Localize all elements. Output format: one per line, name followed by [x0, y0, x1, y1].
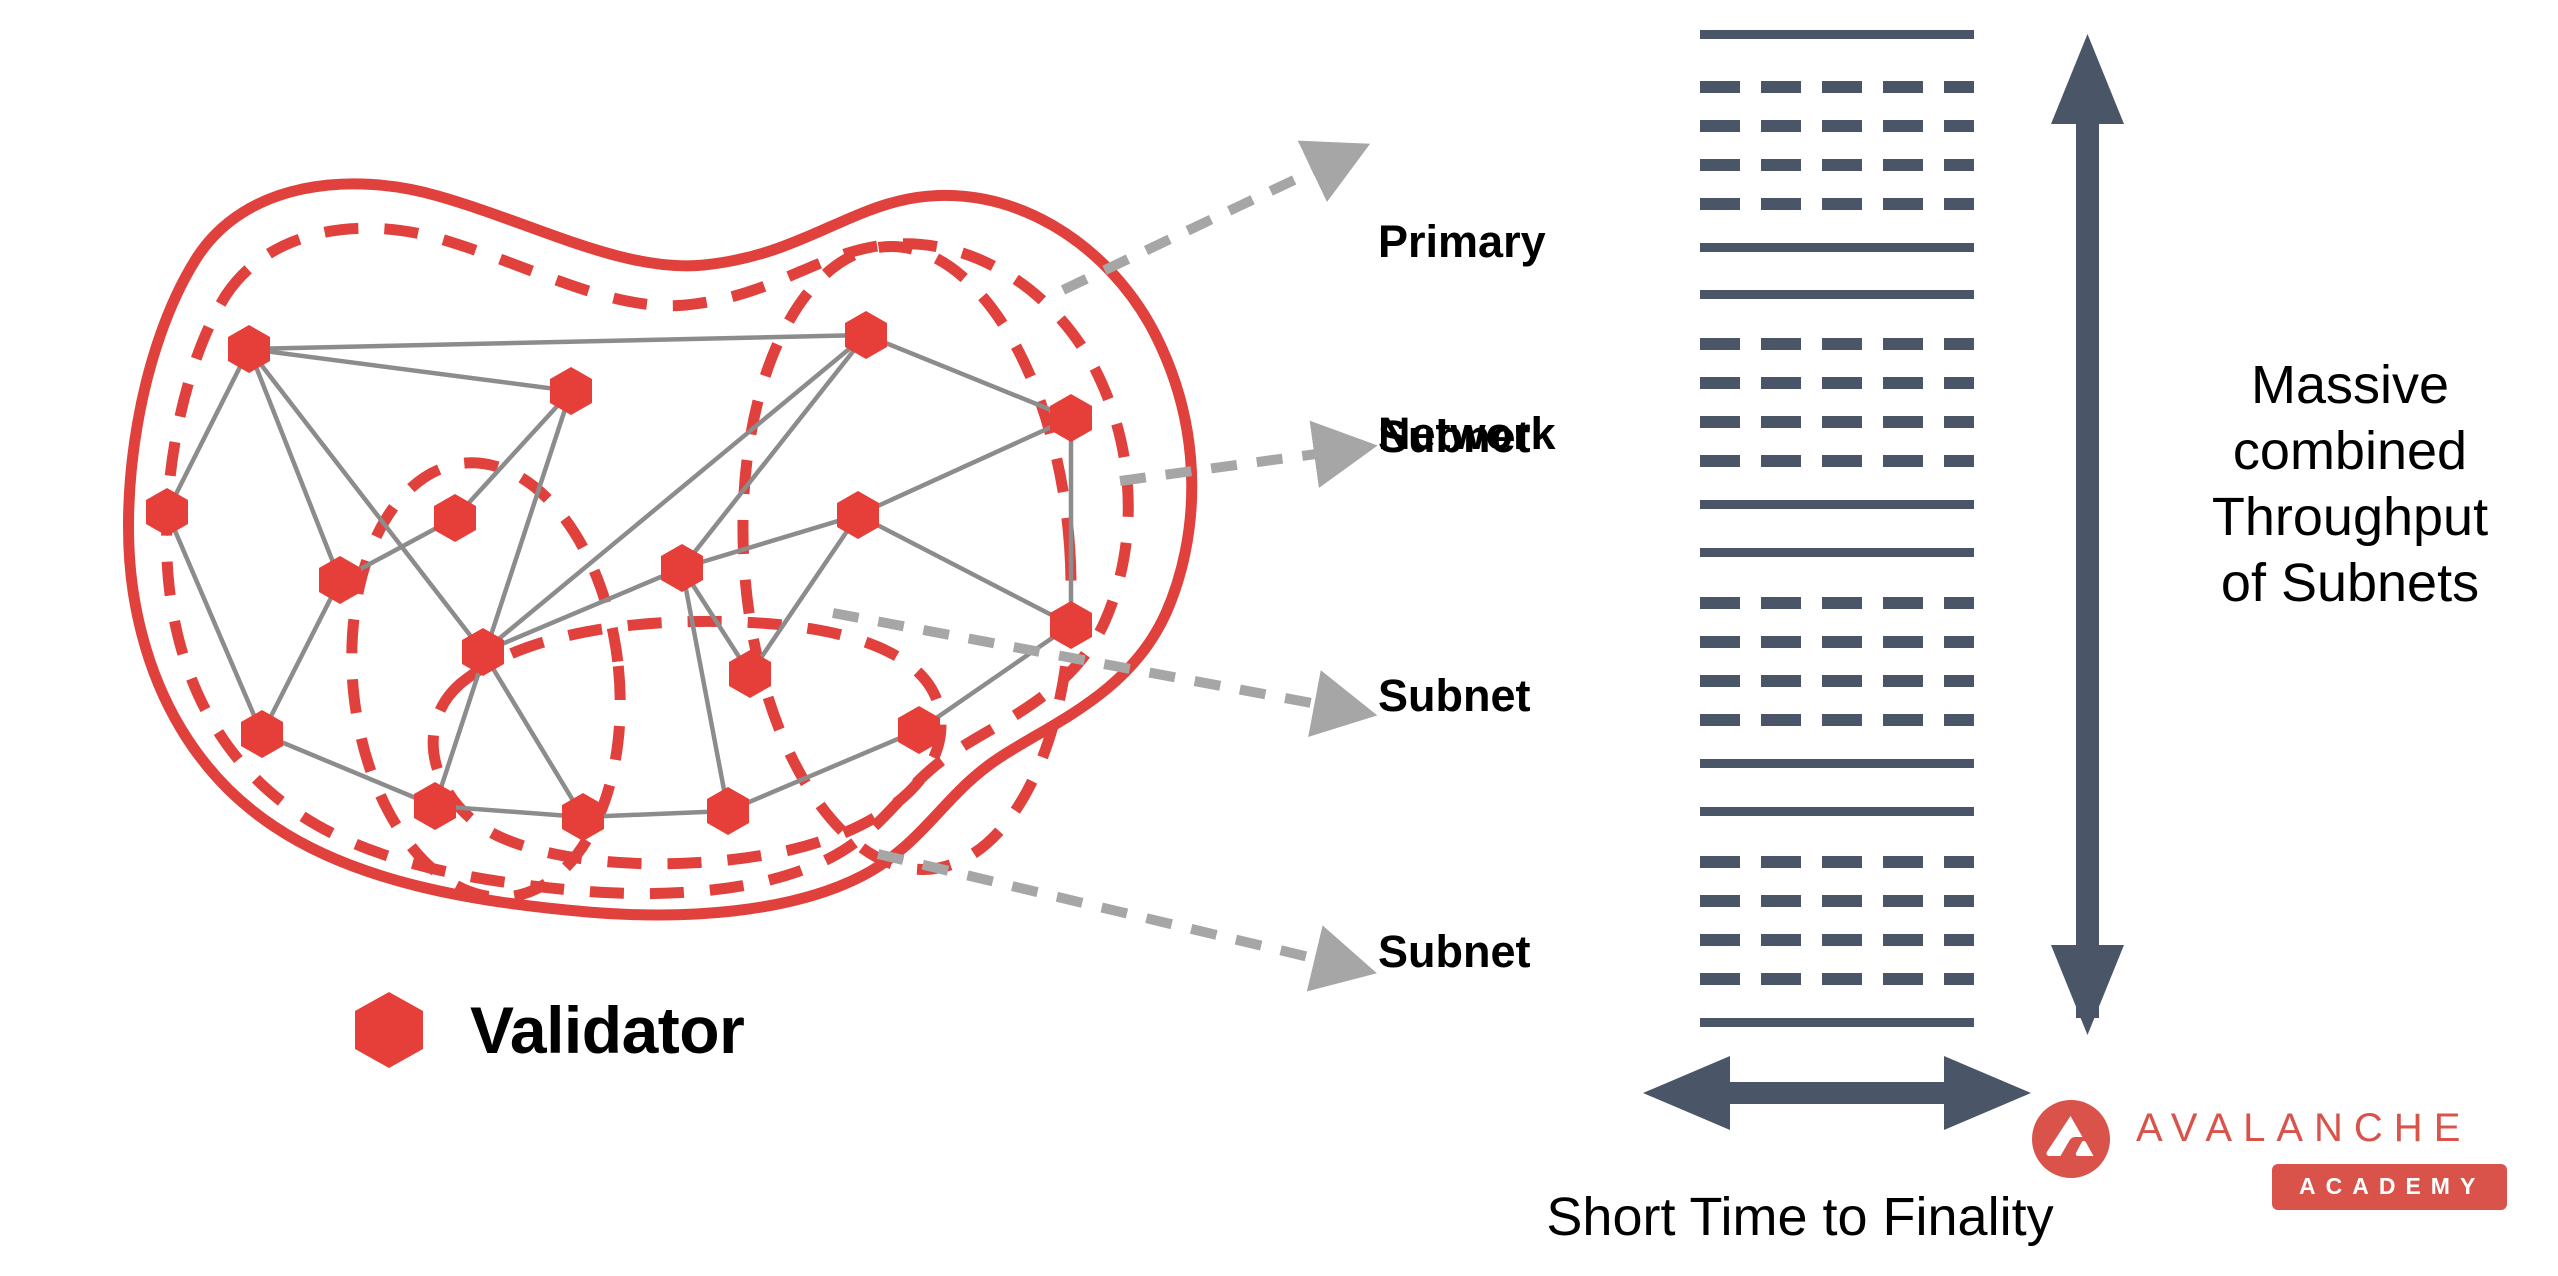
- lane-dash-row: [1700, 159, 1974, 171]
- legend-validator-label: Validator: [470, 992, 744, 1068]
- throughput-lane-stripes: [1700, 30, 1974, 1027]
- validator-node: [319, 556, 361, 604]
- academy-badge-text: ACADEMY: [2299, 1173, 2485, 1199]
- leader-subnet-1: [1120, 451, 1338, 481]
- lane-dash-row: [1700, 934, 1974, 946]
- lane-rail: [1700, 1018, 1974, 1027]
- caption-throughput-line3: Throughput: [2150, 484, 2550, 550]
- lane-dash-row: [1700, 675, 1974, 687]
- lane-dash-row: [1700, 636, 1974, 648]
- lane-dash-row: [1700, 856, 1974, 868]
- lane-dash-row: [1700, 895, 1974, 907]
- academy-badge: ACADEMY: [2272, 1164, 2507, 1210]
- lane-rail: [1700, 548, 1974, 557]
- caption-throughput: Massive combined Throughput of Subnets: [2150, 352, 2550, 616]
- validator-node: [837, 491, 879, 539]
- diagram-svg: [0, 0, 2558, 1276]
- horizontal-double-arrow: [1643, 1056, 2031, 1130]
- lane-dash-row: [1700, 597, 1974, 609]
- avalanche-mark-icon: [2032, 1100, 2110, 1178]
- label-subnet-2: Subnet: [1378, 670, 1531, 722]
- validator-node: [1050, 394, 1092, 442]
- validator-node: [562, 793, 604, 841]
- lane-dash-row: [1700, 973, 1974, 985]
- diagram-canvas: Primary Network Subnet Subnet Subnet Val…: [0, 0, 2558, 1276]
- lane-rail: [1700, 243, 1974, 252]
- hexagon-icon: [352, 990, 426, 1070]
- lane-rail: [1700, 30, 1974, 39]
- validator-nodes: [146, 311, 1092, 841]
- label-subnet-3: Subnet: [1378, 926, 1531, 978]
- validator-node: [146, 488, 188, 536]
- caption-throughput-line1: Massive: [2150, 352, 2550, 418]
- caption-throughput-line2: combined: [2150, 418, 2550, 484]
- caption-throughput-line4: of Subnets: [2150, 550, 2550, 616]
- lane-dash-row: [1700, 377, 1974, 389]
- validator-node: [1050, 601, 1092, 649]
- validator-node: [414, 782, 456, 830]
- leader-subnet-3: [878, 854, 1338, 964]
- lane-dash-row: [1700, 455, 1974, 467]
- lane-dash-row: [1700, 120, 1974, 132]
- vertical-double-arrow: [2051, 34, 2124, 1035]
- lane-dash-row: [1700, 714, 1974, 726]
- lane-rail: [1700, 290, 1974, 299]
- avalanche-wordmark: AVALANCHE: [2136, 1106, 2471, 1151]
- lane-dash-row: [1700, 338, 1974, 350]
- avalanche-academy-logo: AVALANCHE ACADEMY: [2032, 1098, 2538, 1214]
- validator-node: [241, 710, 283, 758]
- subnet-boundary-d: [433, 621, 941, 863]
- label-primary-network-line1: Primary: [1378, 210, 1556, 274]
- caption-finality: Short Time to Finality: [1500, 1186, 2100, 1248]
- lane-rail: [1700, 759, 1974, 768]
- lane-dash-row: [1700, 198, 1974, 210]
- label-primary-network: Primary Network: [1378, 82, 1556, 594]
- lane-dash-row: [1700, 416, 1974, 428]
- lane-rail: [1700, 807, 1974, 816]
- subnet-boundary-a: [167, 228, 1129, 893]
- label-subnet-1: Subnet: [1378, 411, 1531, 463]
- validator-node: [707, 787, 749, 835]
- lane-dash-row: [1700, 81, 1974, 93]
- avalanche-triangle-icon: [2032, 1100, 2110, 1178]
- legend-validator: Validator: [352, 990, 744, 1070]
- subnet-boundary-b: [723, 235, 1092, 880]
- lane-rail: [1700, 500, 1974, 509]
- validator-node: [729, 650, 771, 698]
